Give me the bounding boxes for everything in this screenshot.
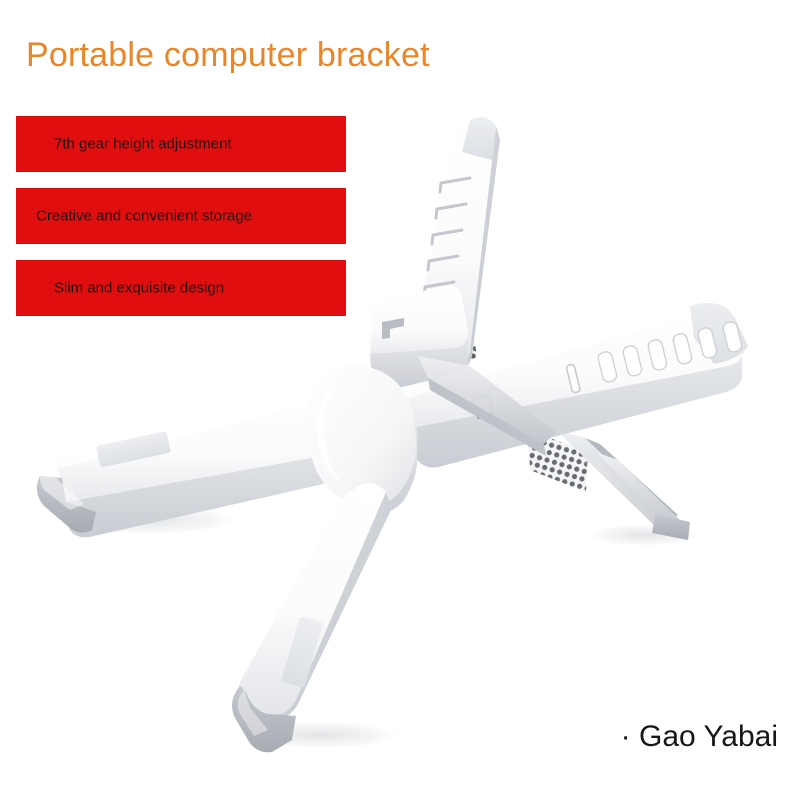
arm-lower-left xyxy=(37,379,393,537)
feature-banner-3: Slim and exquisite design xyxy=(16,260,346,316)
upper-arm-tip-pad xyxy=(462,117,496,160)
right-arm-vent-slots xyxy=(597,321,743,383)
shadow-bottom-foot xyxy=(235,720,405,750)
left-arm-grip-pad xyxy=(96,431,171,467)
left-arm-foot xyxy=(37,476,96,533)
gear-notches xyxy=(416,178,470,348)
arm-bottom-front xyxy=(232,483,392,752)
feature-banner-1-label: 7th gear height adjustment xyxy=(54,136,232,153)
right-arm-narrow-slot xyxy=(566,364,581,393)
support-leg xyxy=(556,430,690,540)
bottom-arm-foot xyxy=(232,686,296,752)
upper-left-notch xyxy=(382,318,404,339)
right-arm-end-pad xyxy=(690,303,748,364)
shadow-left-foot xyxy=(55,504,245,536)
support-leg-tip xyxy=(652,514,690,540)
rear-strut xyxy=(418,356,556,456)
product-promo-image: Portable computer bracket 7th gear heigh… xyxy=(0,0,800,800)
arm-upper-right-gear-rail xyxy=(413,117,500,374)
feature-banner-3-label: Slim and exquisite design xyxy=(54,280,224,297)
vent-mesh-panels xyxy=(432,306,588,492)
central-hinge xyxy=(306,366,417,515)
feature-banner-2: Creative and convenient storage xyxy=(16,188,346,244)
page-title: Portable computer bracket xyxy=(26,36,430,75)
feature-banner-2-label: Creative and convenient storage xyxy=(36,208,252,225)
arm-lower-right xyxy=(402,299,748,468)
arm-upper-left xyxy=(369,286,468,391)
feature-banner-1: 7th gear height adjustment xyxy=(16,116,346,172)
bottom-arm-grip-pad xyxy=(281,616,323,688)
brand-signature: · Gao Yabai xyxy=(621,720,778,754)
shadow-support-leg xyxy=(585,523,705,547)
right-arm-latch-hole xyxy=(472,394,495,420)
